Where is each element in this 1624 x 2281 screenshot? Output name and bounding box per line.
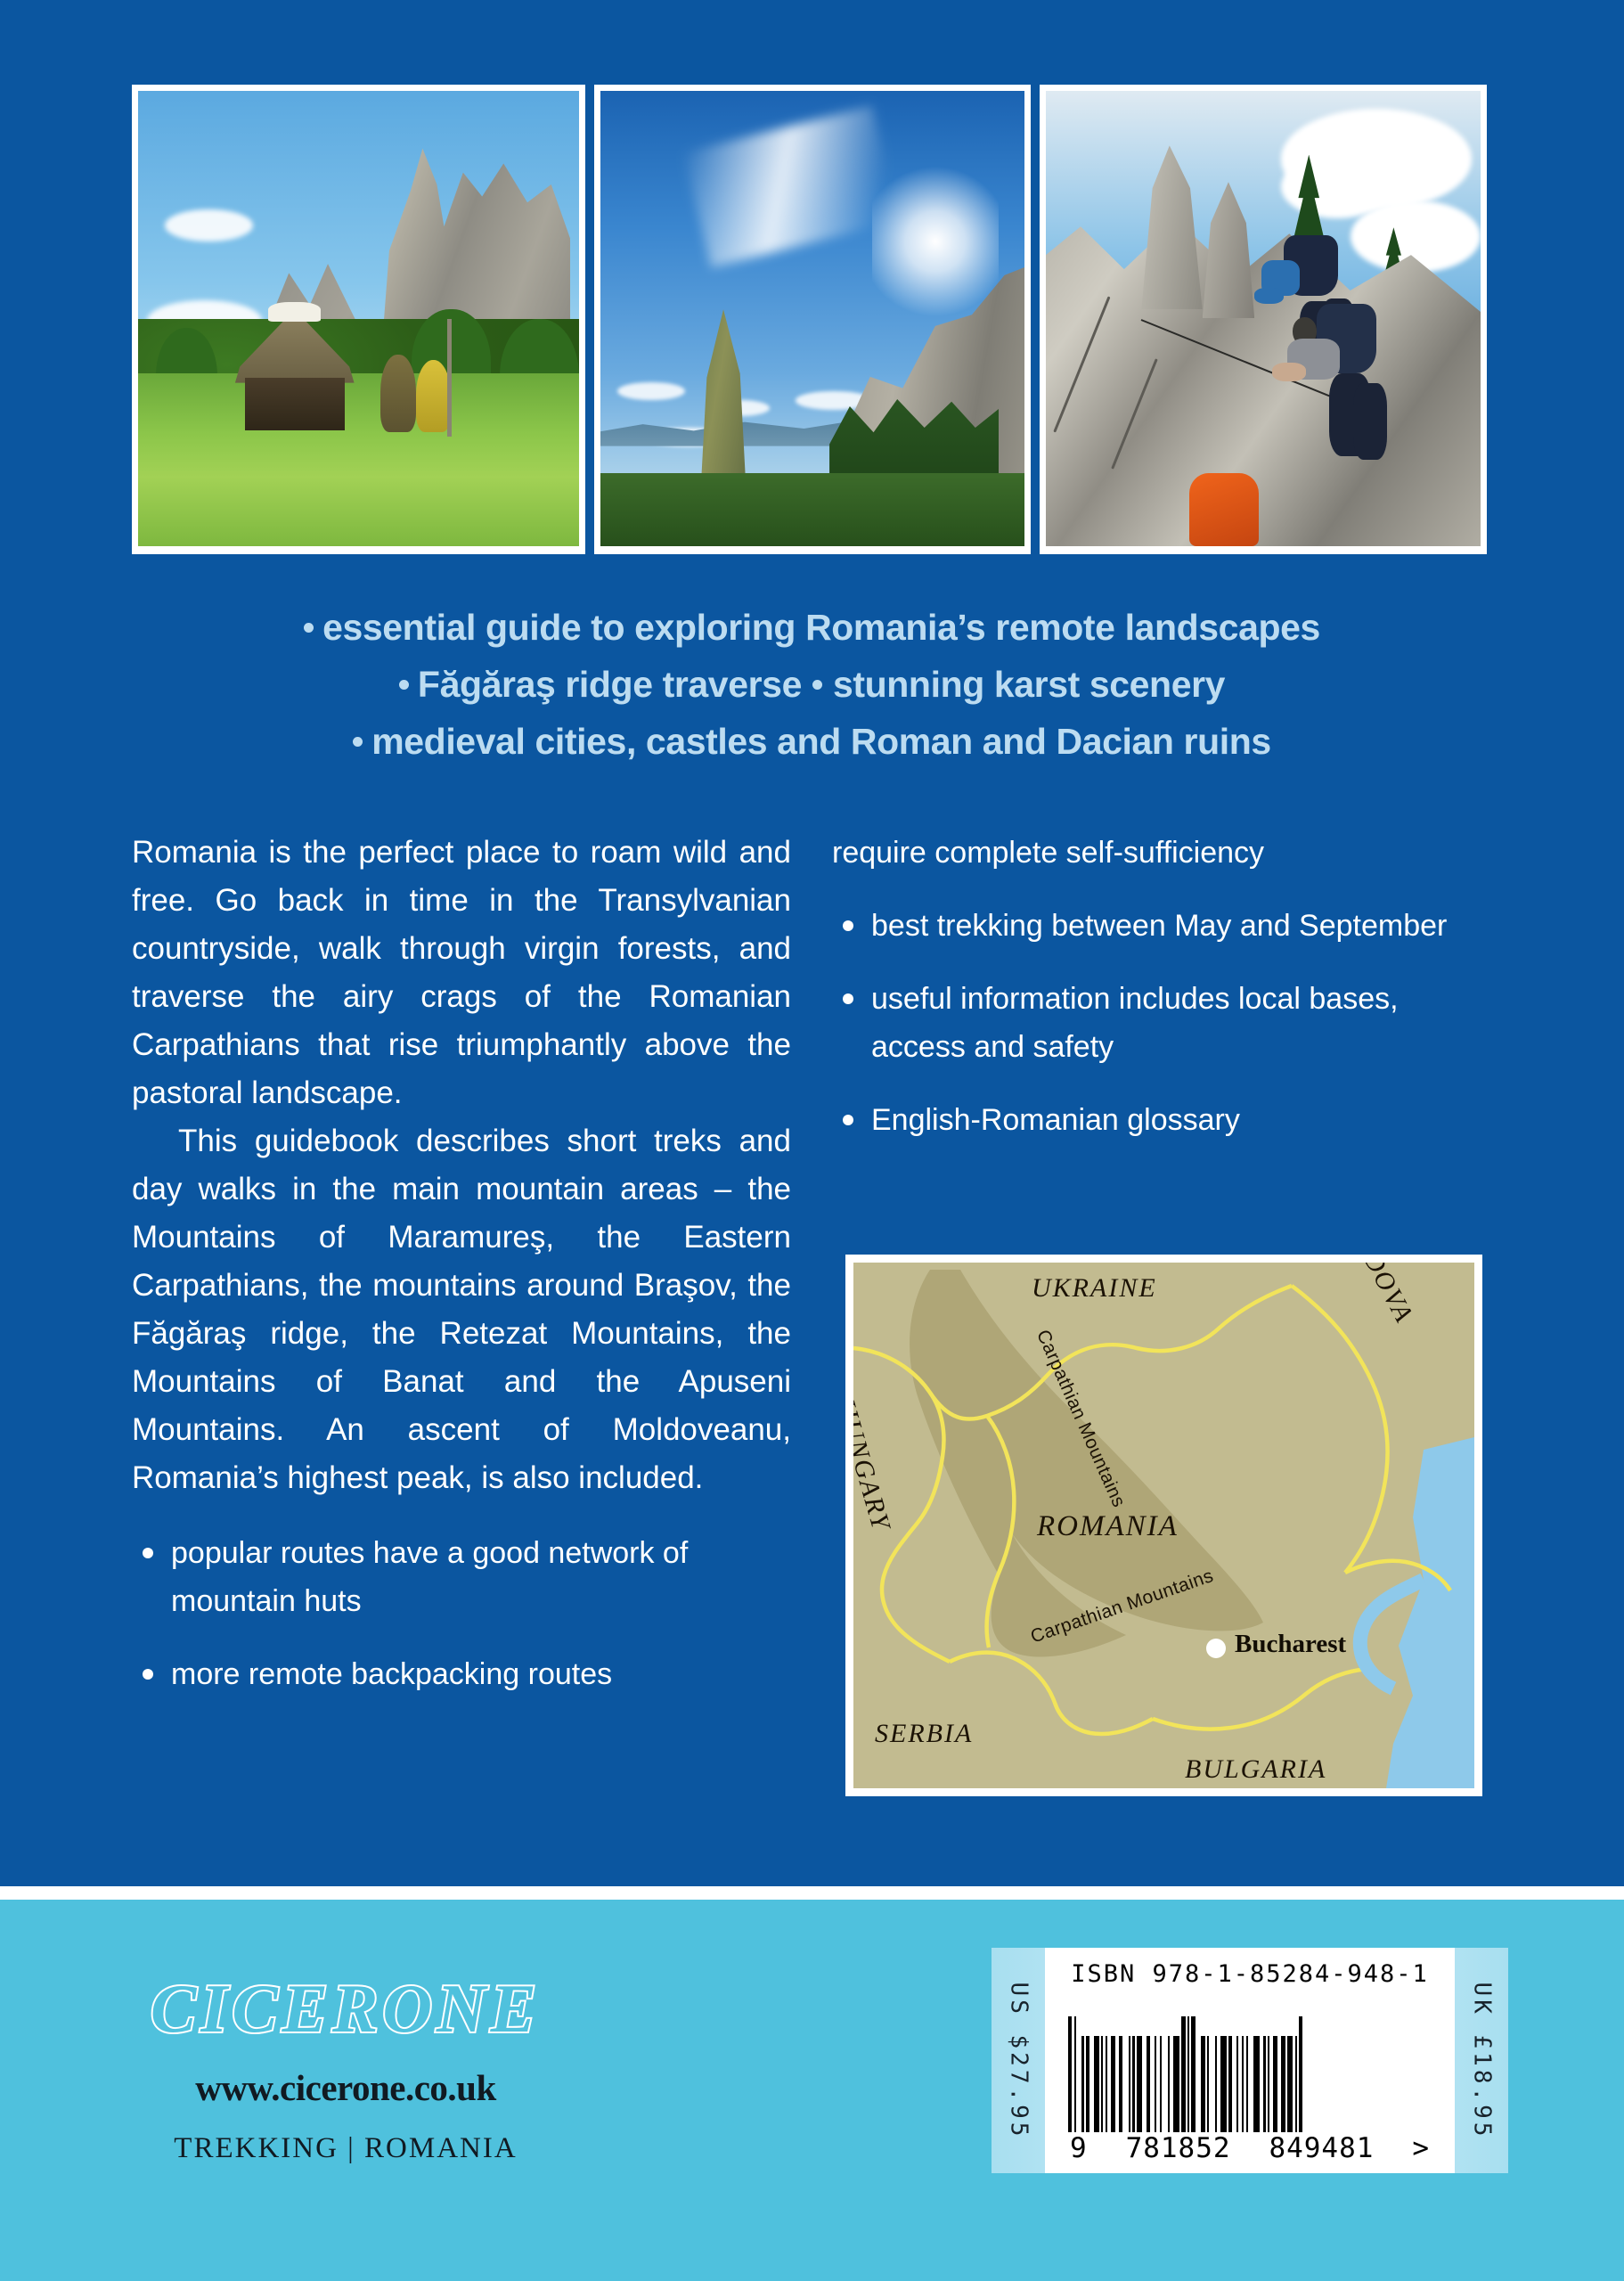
list-item: English-Romanian glossary	[832, 1096, 1456, 1144]
right-feature-list: best trekking between May and September …	[832, 902, 1456, 1144]
publisher-brand-block: CICERONE www.cicerone.co.uk TREKKING | R…	[132, 1969, 559, 2165]
bullet-dot-icon	[812, 680, 822, 690]
photo-rock-pinnacle-and-cliffs	[594, 85, 1031, 554]
list-item: popular routes have a good network of mo…	[132, 1529, 791, 1625]
barcode-bar	[1248, 2036, 1254, 2132]
barcode-bar	[1209, 2036, 1215, 2132]
price-us: US $27.95	[992, 1948, 1045, 2173]
barcode-bars	[1068, 1997, 1432, 2132]
list-item: best trekking between May and September	[832, 902, 1456, 950]
photo-climbers-on-via-ferrata	[1040, 85, 1487, 554]
carpathian-shading	[910, 1270, 1263, 1656]
capital-marker-icon	[1206, 1639, 1226, 1658]
publisher-website[interactable]: www.cicerone.co.uk	[132, 2066, 559, 2109]
tagline-line-3: medieval cities, castles and Roman and D…	[0, 713, 1624, 770]
barcode-digit-group-right: >	[1412, 2132, 1430, 2164]
book-categories: TREKKING | ROMANIA	[132, 2132, 559, 2165]
tagline-line-1: essential guide to exploring Romania’s r…	[0, 599, 1624, 656]
barcode-block: US $27.95 ISBN 978-1-85284-948-1 9 78185…	[992, 1948, 1508, 2173]
price-uk: UK £18.95	[1455, 1948, 1508, 2173]
barcode-bar	[1162, 2036, 1168, 2132]
intro-paragraph: Romania is the perfect place to roam wil…	[132, 829, 791, 1117]
bullet-dot-icon	[353, 737, 363, 747]
barcode-digit-group-1: 781852	[1126, 2132, 1231, 2164]
map-label-bucharest: Bucharest	[1235, 1630, 1346, 1659]
photo-limestone-crag-and-shepherd-hut	[132, 85, 585, 554]
left-text-column: Romania is the perfect place to roam wil…	[132, 829, 791, 1723]
map-label-romania: ROMANIA	[1037, 1510, 1179, 1543]
guidebook-paragraph: This guidebook describes short treks and…	[132, 1117, 791, 1502]
bullet-dot-icon	[304, 623, 314, 633]
self-sufficiency-line: require complete self-sufficiency	[832, 829, 1456, 877]
barcode-bar	[1302, 2016, 1306, 2132]
barcode-bar	[1253, 2036, 1260, 2132]
tagline-block: essential guide to exploring Romania’s r…	[0, 599, 1624, 770]
bullet-dot-icon	[399, 680, 409, 690]
locator-map: UKRAINE MOLDOVA HUNGARY ROMANIA SERBIA B…	[845, 1255, 1482, 1796]
barcode-bar	[1287, 2036, 1293, 2132]
map-label-ukraine: UKRAINE	[1032, 1273, 1157, 1304]
footer-divider	[0, 1886, 1624, 1900]
barcode-digit-group-left: 9	[1070, 2132, 1088, 2164]
barcode-panel: ISBN 978-1-85284-948-1 9 781852 849481 >	[1045, 1948, 1455, 2173]
list-item: useful information includes local bases,…	[832, 975, 1456, 1071]
barcode-bar	[1076, 2036, 1082, 2132]
barcode-bar	[1122, 2036, 1129, 2132]
list-item: more remote backpacking routes	[132, 1650, 791, 1698]
barcode-bar	[1094, 2036, 1100, 2132]
barcode-digits: 9 781852 849481 >	[1068, 2132, 1432, 2164]
map-label-serbia: SERBIA	[875, 1719, 973, 1749]
photo-strip	[132, 85, 1492, 554]
map-label-bulgaria: BULGARIA	[1185, 1754, 1326, 1785]
black-sea	[1386, 1437, 1474, 1788]
footer-band: CICERONE www.cicerone.co.uk TREKKING | R…	[0, 1900, 1624, 2281]
cicerone-logo: CICERONE	[132, 1969, 559, 2048]
climber-lower	[1272, 300, 1402, 473]
barcode-bar	[1196, 2036, 1202, 2132]
barcode-bar	[1220, 2036, 1227, 2132]
left-feature-list: popular routes have a good network of mo…	[132, 1529, 791, 1698]
barcode-bar	[1137, 2036, 1143, 2132]
barcode-digit-group-2: 849481	[1269, 2132, 1374, 2164]
tagline-line-2: Făgăraş ridge traversestunning karst sce…	[0, 656, 1624, 713]
isbn-text: ISBN 978-1-85284-948-1	[1068, 1960, 1432, 1988]
barcode-bar	[1173, 2036, 1179, 2132]
